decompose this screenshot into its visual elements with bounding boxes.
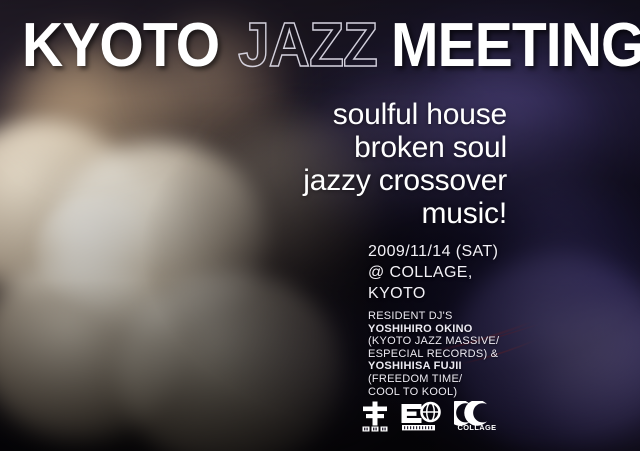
tagline-block: soulful house broken soul jazzy crossove… [127, 98, 507, 230]
tagline-line: music! [127, 197, 507, 230]
tagline-line: soulful house [127, 98, 507, 131]
tagline-line: broken soul [127, 131, 507, 164]
credit-line: RESIDENT DJ'S [368, 310, 499, 323]
event-details-block: 2009/11/14 (SAT) @ COLLAGE, KYOTO [368, 241, 498, 304]
kjm-logo-icon [362, 401, 388, 432]
masthead-title: KYOTO JAZZ MEETING [22, 18, 622, 74]
svg-text:COLLAGE: COLLAGE [458, 423, 497, 432]
poster-canvas: KYOTO JAZZ MEETING soulful house broken … [0, 0, 640, 451]
collage-logo-icon: COLLAGE [454, 401, 500, 432]
masthead-word-meeting: MEETING [391, 18, 640, 74]
credit-line: ESPECIAL RECORDS) & [368, 348, 499, 361]
masthead-word-jazz: JAZZ [238, 18, 377, 74]
masthead-word-kyoto: KYOTO [22, 18, 219, 74]
sponsor-logo-row: COLLAGE [362, 401, 500, 432]
event-date: 2009/11/14 (SAT) [368, 241, 498, 262]
event-venue-line2: KYOTO [368, 283, 498, 304]
credit-line: (FREEDOM TIME/ [368, 373, 499, 386]
credit-line-dj-name: YOSHIHIRO OKINO [368, 323, 499, 336]
credit-line: (KYOTO JAZZ MASSIVE/ [368, 335, 499, 348]
dj-credits-block: RESIDENT DJ'S YOSHIHIRO OKINO (KYOTO JAZ… [368, 310, 499, 398]
credit-line: COOL TO KOOL) [368, 386, 499, 399]
event-venue-line1: @ COLLAGE, [368, 262, 498, 283]
tagline-line: jazzy crossover [127, 164, 507, 197]
credit-line-dj-name: YOSHIHISA FUJII [368, 360, 499, 373]
especial-logo-icon [401, 401, 441, 432]
